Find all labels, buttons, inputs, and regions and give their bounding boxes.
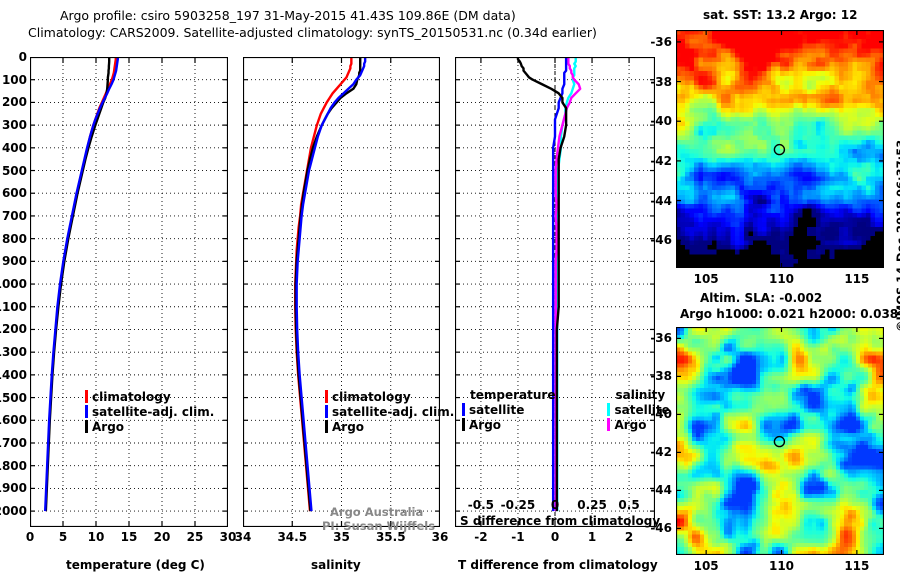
legend-item: satellite (462, 402, 555, 417)
axis-tick-label: 34.5 (277, 530, 307, 544)
axis-tick-label: -38 (650, 369, 672, 383)
sst-map (676, 30, 884, 268)
axis-tick-label: -2 (474, 530, 487, 544)
axis-tick-label: 0 (26, 530, 34, 544)
legend-item: Argo (85, 419, 214, 434)
sst-map-title: sat. SST: 13.2 Argo: 12 (703, 8, 857, 22)
difference-legend-temperature: temperature satellite Argo (462, 388, 555, 432)
legend-swatch-argo (462, 418, 465, 431)
axis-tick-label: 1900 (0, 481, 27, 495)
axis-tick-label: 15 (121, 530, 138, 544)
axis-tick-label: 2 (625, 530, 633, 544)
axis-tick-label: 0 (551, 498, 559, 512)
legend-group-title: salinity (615, 388, 669, 402)
axis-tick-label: 2000 (0, 504, 27, 518)
temperature-panel (30, 57, 228, 527)
axis-tick-label: -46 (650, 521, 672, 535)
legend-label: Argo (92, 420, 124, 434)
legend-item: satellite-adj. clim. (85, 404, 214, 419)
axis-tick-label: 300 (2, 118, 27, 132)
legend-item: climatology (325, 389, 454, 404)
axis-tick-label: 900 (2, 254, 27, 268)
legend-label: satellite (469, 403, 524, 417)
t-difference-axis-label: T difference from climatology (458, 558, 658, 572)
legend-swatch-salinity-argo (607, 418, 610, 431)
temperature-plot (30, 57, 228, 527)
axis-tick-label: 25 (187, 530, 204, 544)
axis-tick-label: 1300 (0, 345, 27, 359)
salinity-panel (243, 57, 440, 527)
axis-tick-label: 600 (2, 186, 27, 200)
sst-map-canvas (676, 30, 884, 268)
axis-tick-label: -40 (650, 407, 672, 421)
temperature-axis-label: temperature (deg C) (66, 558, 205, 572)
axis-tick-label: 1200 (0, 322, 27, 336)
axis-tick-label: 1700 (0, 436, 27, 450)
legend-label: climatology (332, 390, 411, 404)
axis-tick-label: 1800 (0, 459, 27, 473)
axis-tick-label: 500 (2, 164, 27, 178)
sla-map (676, 327, 884, 555)
legend-label: Argo (614, 418, 646, 432)
axis-tick-label: 1400 (0, 368, 27, 382)
difference-panel (455, 57, 655, 527)
credit-program: Argo Australia (330, 505, 423, 519)
difference-plot (455, 57, 655, 527)
axis-tick-label: -40 (650, 114, 672, 128)
axis-tick-label: 105 (694, 272, 719, 286)
axis-tick-label: 110 (769, 272, 794, 286)
axis-tick-label: 110 (769, 559, 794, 573)
axis-tick-label: -0.25 (501, 498, 536, 512)
legend-label: satellite-adj. clim. (92, 405, 214, 419)
axis-tick-label: 34 (235, 530, 252, 544)
axis-tick-label: 115 (844, 272, 869, 286)
axis-tick-label: 20 (154, 530, 171, 544)
legend-swatch-climatology (85, 390, 88, 403)
axis-tick-label: 800 (2, 232, 27, 246)
axis-tick-label: -36 (650, 35, 672, 49)
legend-item: satellite-adj. clim. (325, 404, 454, 419)
legend-label: Argo (332, 420, 364, 434)
legend-swatch-satellite-adj (325, 405, 328, 418)
legend-swatch-salinity-satellite (607, 403, 610, 416)
axis-tick-label: 5 (59, 530, 67, 544)
legend-swatch-satellite-adj (85, 405, 88, 418)
axis-tick-label: 35.5 (376, 530, 406, 544)
s-difference-axis-label: S difference from climatology (460, 514, 660, 528)
imos-credit: ©IMOS 14-Dec-2018 06:37:53 (894, 140, 900, 332)
legend-item: climatology (85, 389, 214, 404)
axis-tick-label: -44 (650, 194, 672, 208)
legend-item: Argo (462, 417, 555, 432)
axis-tick-label: 0 (551, 530, 559, 544)
axis-tick-label: 36 (432, 530, 449, 544)
axis-tick-label: 400 (2, 141, 27, 155)
axis-tick-label: -0.5 (468, 498, 494, 512)
axis-tick-label: -36 (650, 331, 672, 345)
axis-tick-label: 0 (19, 50, 27, 64)
legend-label: satellite-adj. clim. (332, 405, 454, 419)
axis-tick-label: -42 (650, 154, 672, 168)
legend-swatch-argo (85, 420, 88, 433)
salinity-axis-label: salinity (311, 558, 361, 572)
axis-tick-label: -38 (650, 75, 672, 89)
axis-tick-label: -46 (650, 233, 672, 247)
legend-group-title: temperature (470, 388, 555, 402)
axis-tick-label: 1500 (0, 391, 27, 405)
axis-tick-label: 100 (2, 73, 27, 87)
page-title-line2: Climatology: CARS2009. Satellite-adjuste… (28, 25, 597, 40)
legend-swatch-climatology (325, 390, 328, 403)
axis-tick-label: 35 (333, 530, 350, 544)
legend-swatch-satellite (462, 403, 465, 416)
axis-tick-label: -1 (511, 530, 524, 544)
axis-tick-label: 115 (844, 559, 869, 573)
legend-item: Argo (325, 419, 454, 434)
sla-map-title-line1: Altim. SLA: -0.002 (700, 291, 822, 305)
axis-tick-label: 200 (2, 95, 27, 109)
imos-credit-wrap: ©IMOS 14-Dec-2018 06:37:53 (894, 332, 900, 346)
difference-legend: temperature satellite Argo salinity sate… (462, 388, 670, 432)
axis-tick-label: -42 (650, 445, 672, 459)
axis-tick-label: 700 (2, 209, 27, 223)
axis-tick-label: 1600 (0, 413, 27, 427)
legend-label: climatology (92, 390, 171, 404)
axis-tick-label: 105 (694, 559, 719, 573)
sla-map-title-line2: Argo h1000: 0.021 h2000: 0.038 (680, 307, 898, 321)
axis-tick-label: 1100 (0, 300, 27, 314)
legend-label: Argo (469, 418, 501, 432)
salinity-plot (243, 57, 440, 527)
legend-swatch-argo (325, 420, 328, 433)
sla-map-canvas (676, 327, 884, 555)
axis-tick-label: 0.5 (618, 498, 639, 512)
axis-tick-label: 0.25 (577, 498, 607, 512)
axis-tick-label: 1 (588, 530, 596, 544)
salinity-legend: climatology satellite-adj. clim. Argo (325, 389, 454, 434)
axis-tick-label: 1000 (0, 277, 27, 291)
axis-tick-label: 10 (88, 530, 105, 544)
page-title-line1: Argo profile: csiro 5903258_197 31-May-2… (60, 8, 516, 23)
axis-tick-label: -44 (650, 483, 672, 497)
temperature-legend: climatology satellite-adj. clim. Argo (85, 389, 214, 434)
